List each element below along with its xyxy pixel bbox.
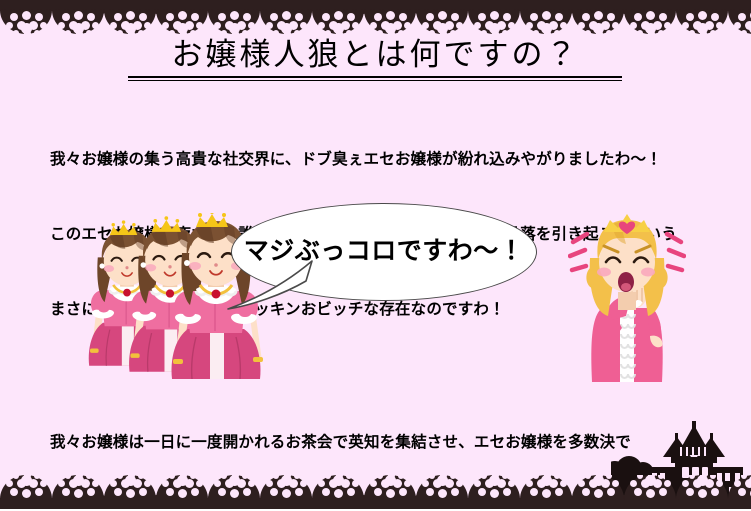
lace-dot-row-top <box>0 9 751 15</box>
lace-scallop <box>260 10 312 34</box>
lace-scallop <box>156 10 208 34</box>
rules-line-2: 一人見つけ出してはこの社交界から追放させる必要がありますのよ！ <box>50 505 631 511</box>
rules-paragraph: 我々お嬢様は一日に一度開かれるお茶会で英知を集結させ、エセお嬢様を多数決で 一人… <box>50 380 631 511</box>
lace-scallop-row-top <box>0 10 751 34</box>
title-underline <box>128 76 622 81</box>
laughing-blonde-princess-illustration <box>568 212 686 390</box>
lace-scallop <box>468 10 520 34</box>
title-underline-thin <box>128 80 622 81</box>
lace-scallop <box>624 10 676 34</box>
lace-scallop <box>520 10 572 34</box>
lace-scallop <box>416 10 468 34</box>
lace-scallop <box>208 10 260 34</box>
lace-scallop <box>0 10 52 34</box>
motion-lines-right <box>667 234 684 270</box>
motion-lines-left <box>570 234 587 270</box>
title-block: お嬢様人狼とは何ですの？ <box>0 34 751 79</box>
lace-border-top <box>0 0 751 34</box>
page-title: お嬢様人狼とは何ですの？ <box>166 34 586 79</box>
slide-canvas: お嬢様人狼とは何ですの？ 我々お嬢様の集う高貴な社交界に、ドブ臭ぇエセお嬢様が紛… <box>0 0 751 511</box>
title-underline-thick <box>128 76 622 78</box>
lace-scallop <box>572 10 624 34</box>
lace-scallop <box>728 10 751 34</box>
mansion-silhouette <box>611 421 751 499</box>
lace-scallop <box>364 10 416 34</box>
speech-bubble: マジぶっコロですわ〜！ <box>231 203 537 311</box>
speech-bubble-text: マジぶっコロですわ〜！ <box>231 203 537 301</box>
lace-scallop <box>312 10 364 34</box>
lace-scallop <box>0 475 52 499</box>
intro-line-1: 我々お嬢様の集う高貴な社交界に、ドブ臭ぇエセお嬢様が紛れ込みやがりましたわ〜！ <box>50 147 677 172</box>
lace-scallop <box>52 10 104 34</box>
lace-scallop <box>676 10 728 34</box>
lace-band-top <box>0 0 751 11</box>
lace-scallop <box>104 10 156 34</box>
rules-line-1: 我々お嬢様は一日に一度開かれるお茶会で英知を集結させ、エセお嬢様を多数決で <box>50 430 631 455</box>
